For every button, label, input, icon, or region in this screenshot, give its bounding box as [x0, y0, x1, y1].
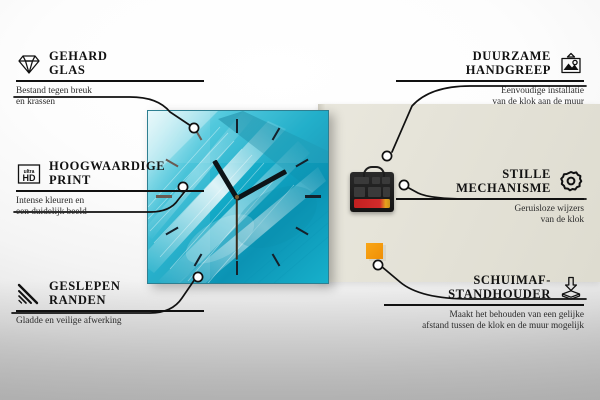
divider [396, 198, 584, 200]
feature-schuimaf-standhouder: SCHUIMAF-STANDHOUDER Maakt het behouden … [384, 274, 584, 332]
feature-stille-mechanisme: STILLEMECHANISME Geruisloze wijzersvan d… [396, 168, 584, 226]
feature-subtitle: Intense kleuren eneen duidelijk beeld [16, 196, 204, 218]
connector-dot-glas [189, 123, 198, 132]
product-infographic: GEHARDGLAS Bestand tegen breuken krassen… [0, 0, 600, 400]
connector-dot-standhouder [373, 260, 382, 269]
feature-title: SCHUIMAF-STANDHOUDER [448, 274, 551, 301]
feature-gehard-glas: GEHARDGLAS Bestand tegen breuken krassen [16, 50, 204, 108]
feature-title: STILLEMECHANISME [456, 168, 551, 195]
feature-title: DUURZAMEHANDGREEP [466, 50, 551, 77]
feature-duurzame-handgreep: DUURZAMEHANDGREEP Eenvoudige installatie… [396, 50, 584, 108]
svg-text:HD: HD [23, 173, 36, 183]
divider [384, 304, 584, 306]
feature-hoogwaardige-print: ultra HD HOOGWAARDIGEPRINT Intense kleur… [16, 160, 204, 218]
feature-title: GESLEPENRANDEN [49, 280, 121, 307]
feature-subtitle: Geruisloze wijzersvan de klok [396, 204, 584, 226]
divider [396, 80, 584, 82]
feature-subtitle: Eenvoudige installatievan de klok aan de… [396, 86, 584, 108]
divider [16, 310, 204, 312]
feature-title: HOOGWAARDIGEPRINT [49, 160, 165, 187]
divider [16, 190, 204, 192]
feature-title: GEHARDGLAS [49, 50, 107, 77]
feature-subtitle: Gladde en veilige afwerking [16, 316, 204, 327]
connector-dot-handgreep [382, 151, 391, 160]
gear-icon [558, 169, 584, 195]
feature-subtitle: Maakt het behouden van een gelijkeafstan… [384, 310, 584, 332]
divider [16, 80, 204, 82]
ultra-hd-icon: ultra HD [16, 161, 42, 187]
press-down-spacer-icon [558, 275, 584, 301]
feature-geslepen-randen: GESLEPENRANDEN Gladde en veilige afwerki… [16, 280, 204, 327]
diamond-icon [16, 51, 42, 77]
picture-frame-hanger-icon [558, 51, 584, 77]
feature-subtitle: Bestand tegen breuken krassen [16, 86, 204, 108]
bevelled-edges-icon [16, 281, 42, 307]
